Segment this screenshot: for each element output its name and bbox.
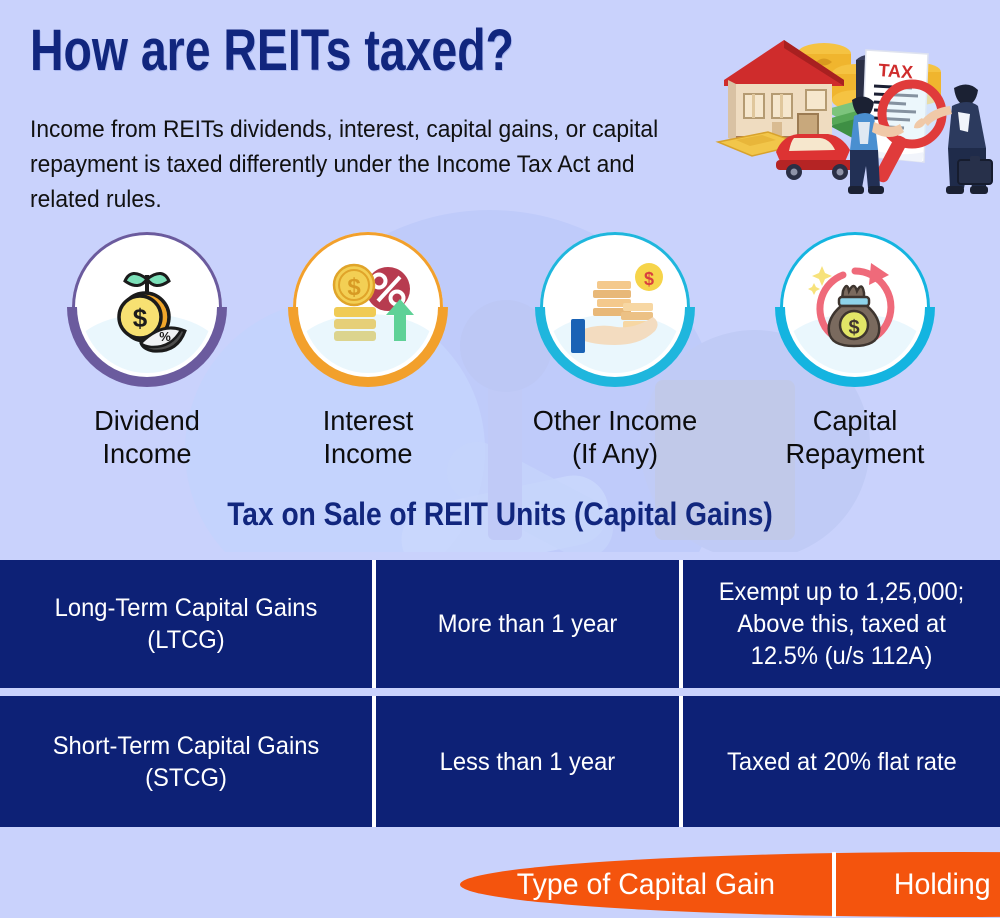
page-subtitle: Income from REITs dividends, interest, c… xyxy=(30,112,672,217)
table-header-row: Type of Capital Gain Holding Period Tax … xyxy=(460,852,1000,917)
income-type-capital-repayment[interactable]: $ Capital Repayment xyxy=(730,232,980,470)
hand-coins-dollar-icon: $ xyxy=(561,257,669,357)
table-column-header-type: Type of Capital Gain xyxy=(460,852,832,917)
ring-other-income: $ xyxy=(540,232,690,382)
income-type-interest-income[interactable]: $ Interest Income xyxy=(243,232,493,470)
income-type-dividend-income[interactable]: $ % Dividend Income xyxy=(22,232,272,470)
table-cell-tax-treatment: Exempt up to 1,25,000; Above this, taxed… xyxy=(679,560,1000,688)
table-cell-type: Short-Term Capital Gains (STCG) xyxy=(0,696,372,827)
table-cell-holding-period: Less than 1 year xyxy=(372,696,679,827)
ring-capital-repayment: $ xyxy=(780,232,930,382)
table-row-divider xyxy=(0,552,1000,560)
table-cell-type: Long-Term Capital Gains (LTCG) xyxy=(0,560,372,688)
page-title: How are REITs taxed? xyxy=(30,22,514,80)
tax-house-illustration: TAX xyxy=(706,22,996,207)
table-row: Long-Term Capital Gains (LTCG) More than… xyxy=(0,560,1000,688)
svg-text:$: $ xyxy=(848,317,859,339)
infographic-page: How are REITs taxed? Income from REITs d… xyxy=(0,0,1000,918)
income-type-label: Interest Income xyxy=(247,404,490,470)
income-type-other-income[interactable]: $ xyxy=(490,232,740,470)
money-bag-refund-arrow-icon: $ xyxy=(803,257,907,357)
coin-percent-uparrow-icon: $ xyxy=(316,257,420,357)
income-type-label: Other Income (If Any) xyxy=(494,404,737,470)
table-cell-tax-treatment: Taxed at 20% flat rate xyxy=(679,696,1000,827)
income-type-label: Dividend Income xyxy=(26,404,269,470)
table-cell-holding-period: More than 1 year xyxy=(372,560,679,688)
svg-text:$: $ xyxy=(347,274,361,301)
table-row-divider xyxy=(0,688,1000,696)
income-type-row: $ % Dividend Income xyxy=(0,232,1000,482)
income-type-label: Capital Repayment xyxy=(734,404,977,470)
svg-text:$: $ xyxy=(644,269,654,289)
table-column-header-holding-period: Holding Period xyxy=(832,852,1000,917)
table-heading: Tax on Sale of REIT Units (Capital Gains… xyxy=(0,496,1000,533)
table-row: Short-Term Capital Gains (STCG) Less tha… xyxy=(0,696,1000,827)
svg-text:%: % xyxy=(159,329,171,344)
tax-doc-label: TAX xyxy=(878,60,914,82)
coin-sprout-leaf-icon: $ % xyxy=(97,257,197,357)
ring-interest: $ xyxy=(293,232,443,382)
ring-dividend: $ % xyxy=(72,232,222,382)
svg-text:$: $ xyxy=(133,303,148,333)
capital-gains-table: Type of Capital Gain Holding Period Tax … xyxy=(0,552,1000,827)
